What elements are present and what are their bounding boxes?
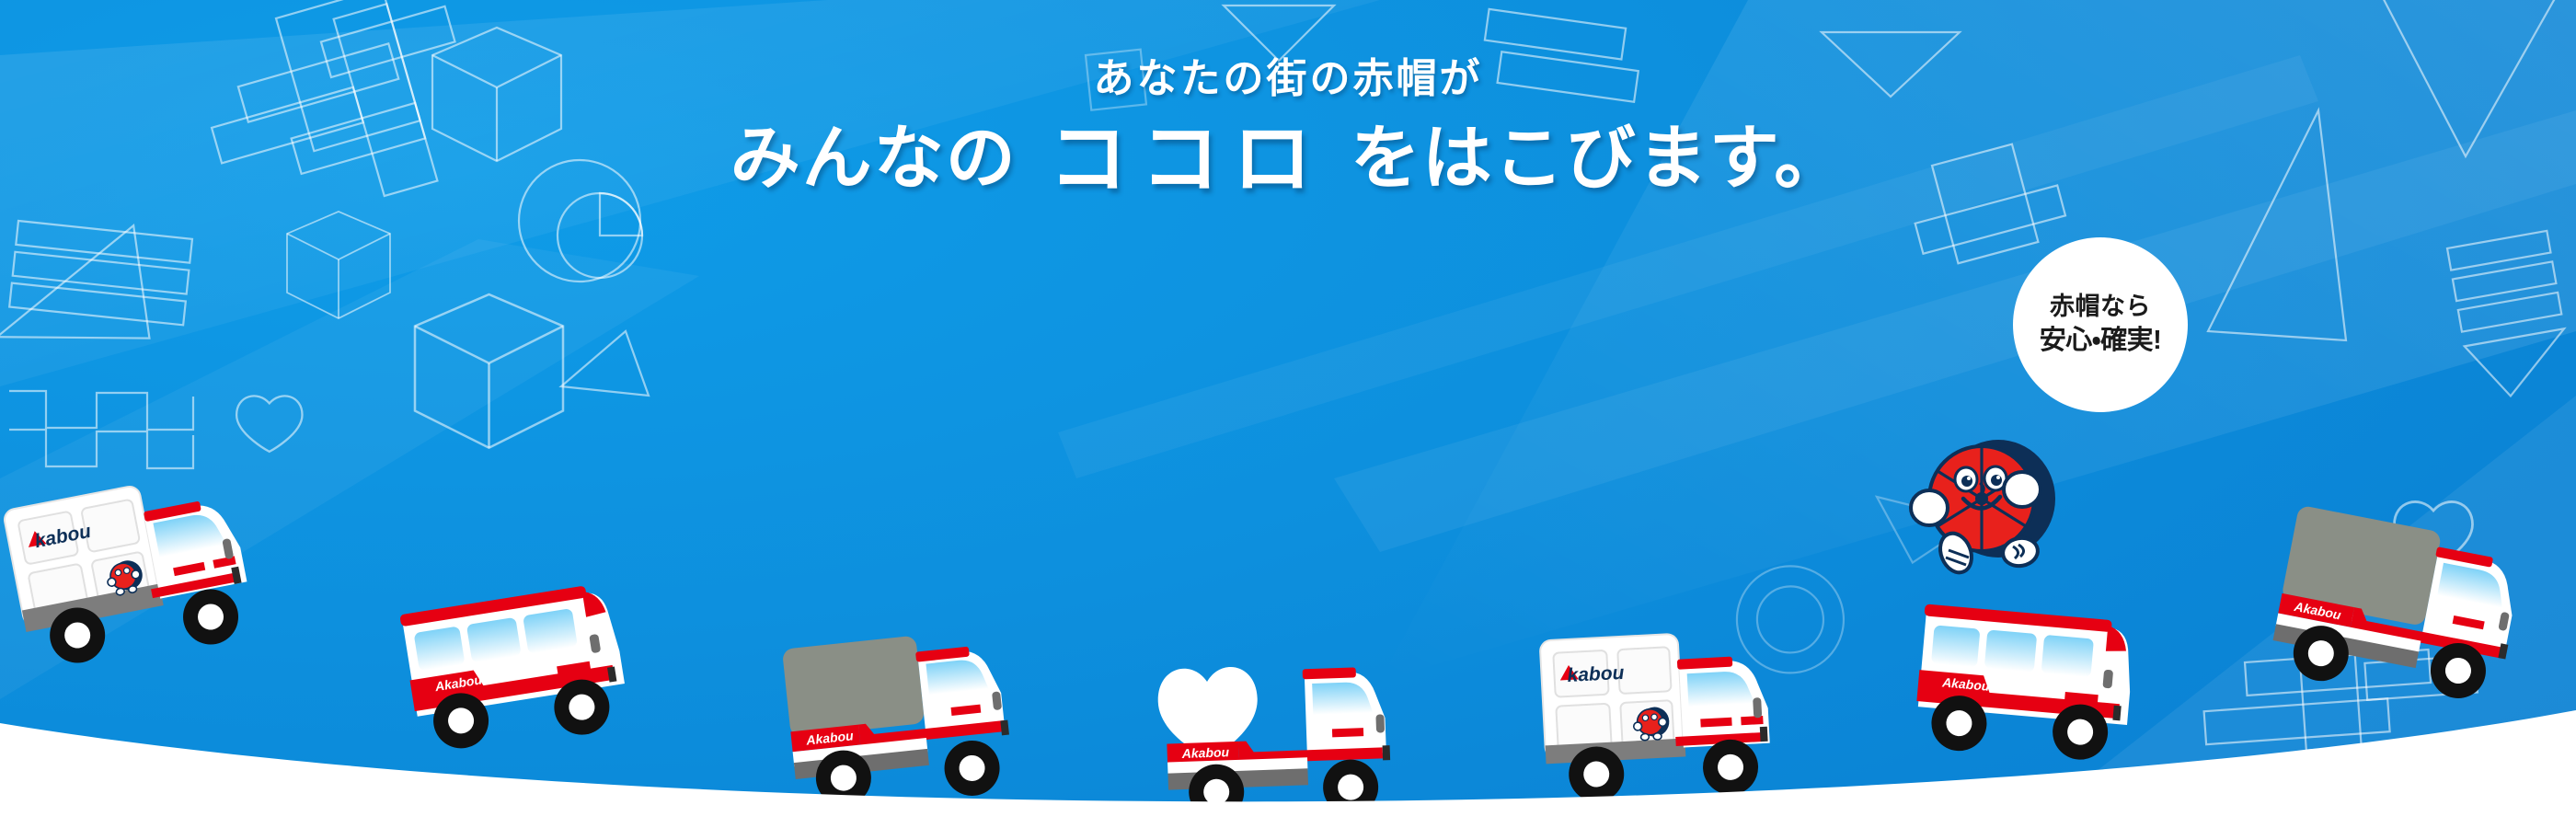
speech-bubble-line-2: 安心・確実! <box>2040 327 2162 356</box>
akabou-mascot-icon <box>1903 431 2068 578</box>
hero-banner: あなたの街の赤帽が みんなの ココロ をはこびます。 赤帽なら 安心・確実! <box>0 0 2576 828</box>
foreground-white-arc <box>0 662 2576 828</box>
speech-bubble-text: 赤帽なら 安心・確実! <box>2013 237 2188 412</box>
speech-bubble: 赤帽なら 安心・確実! <box>2013 237 2188 412</box>
speech-bubble-line-1: 赤帽なら <box>2050 293 2151 321</box>
